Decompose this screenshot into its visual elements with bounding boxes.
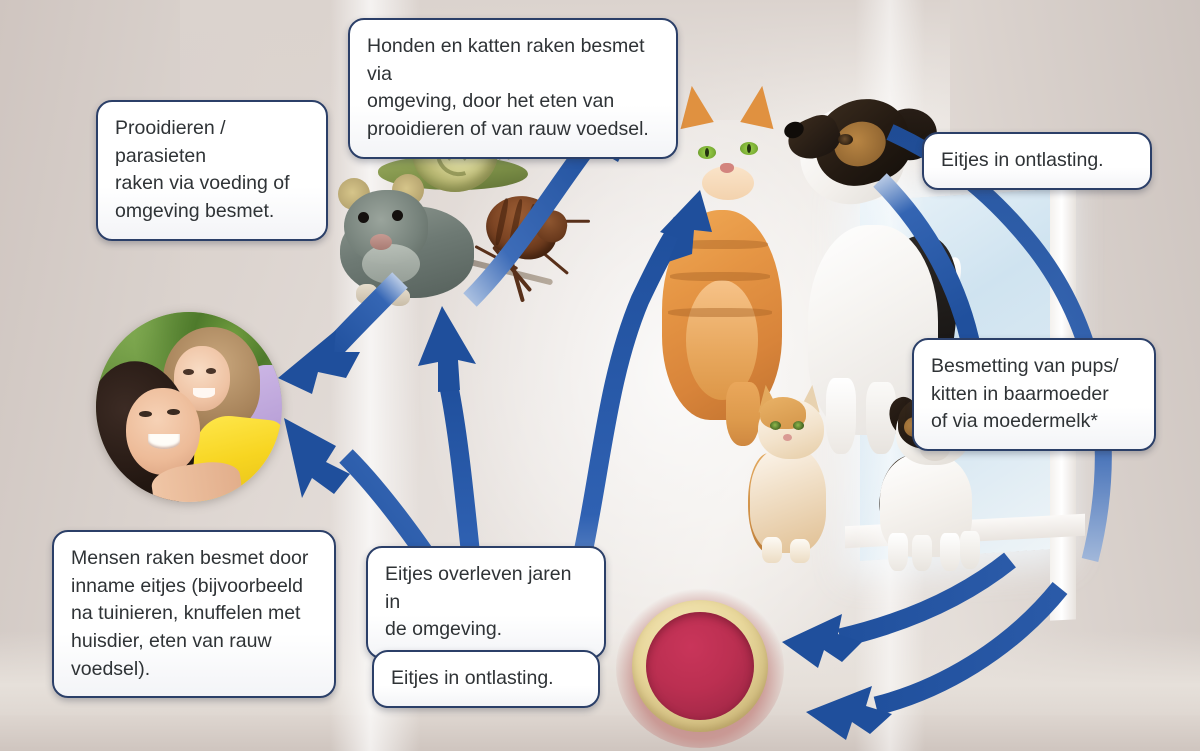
callout-eggs-survive-years: Eitjes overleven jaren in de omgeving.	[366, 546, 606, 659]
callout-humans-infected: Mensen raken besmet door inname eitjes (…	[52, 530, 336, 698]
infographic-canvas: Prooidieren / parasieten raken via voedi…	[0, 0, 1200, 751]
callout-dogs-cats-infected: Honden en katten raken besmet via omgevi…	[348, 18, 678, 159]
callout-eggs-in-feces-bottom: Eitjes in ontlasting.	[372, 650, 600, 708]
arrow-pets-to-humans	[278, 280, 400, 394]
callout-eggs-in-feces-top: Eitjes in ontlasting.	[922, 132, 1152, 190]
callout-pups-kittens-infection: Besmetting van pups/ kitten in baarmoede…	[912, 338, 1156, 451]
callout-prey-parasites: Prooidieren / parasieten raken via voedi…	[96, 100, 328, 241]
